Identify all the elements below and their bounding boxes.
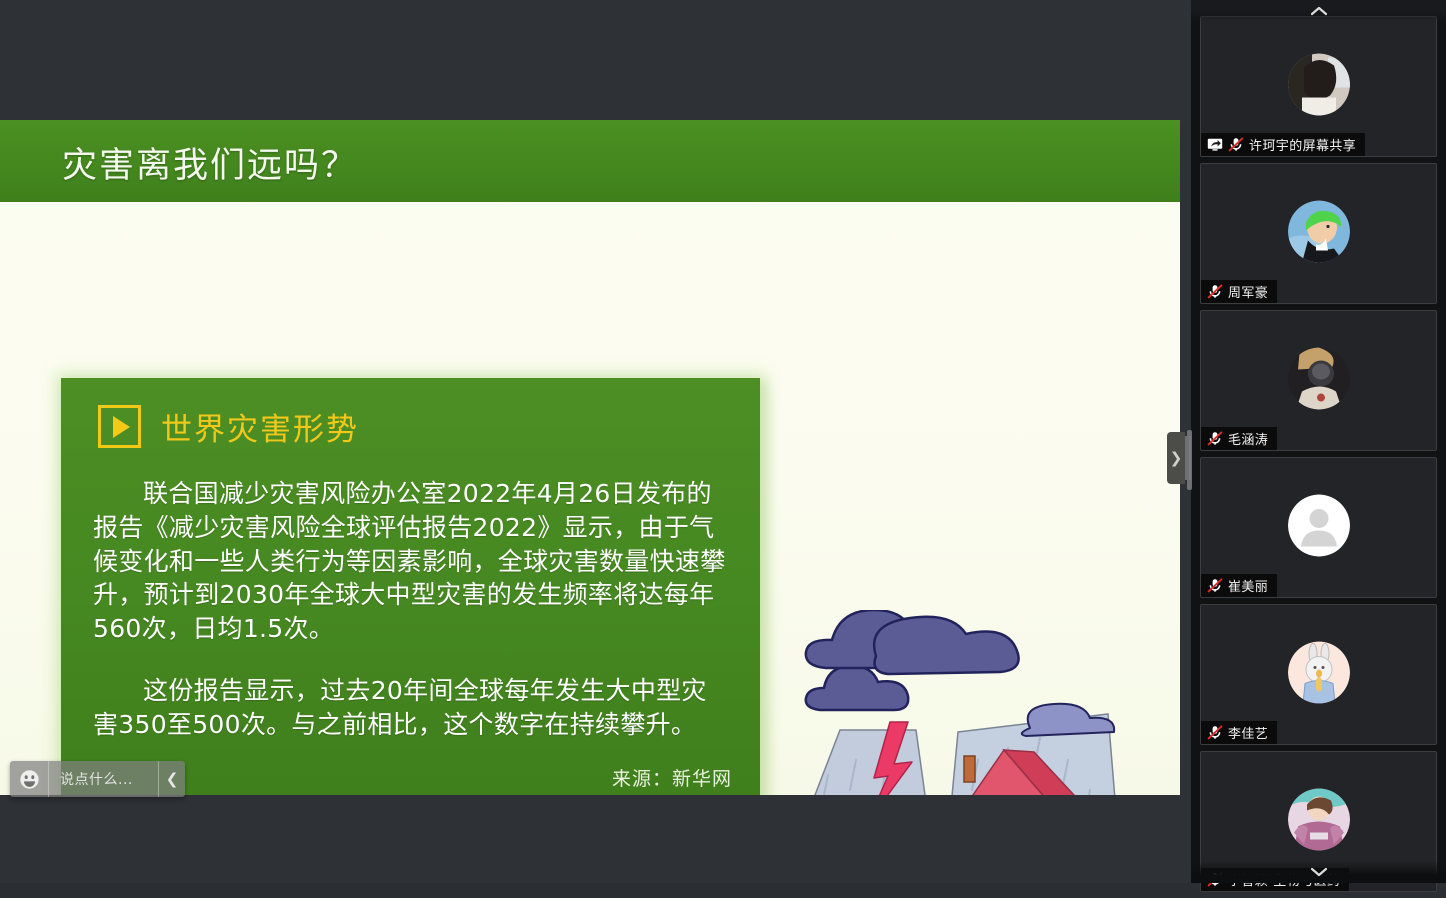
- rail-scroll-up-button[interactable]: [1191, 0, 1446, 22]
- presentation-slide: 灾害离我们远吗？ 世界灾害形势 联合国减少灾害风险办公室2022年4月26日发布…: [0, 120, 1180, 795]
- participant-name: 毛涵涛: [1228, 429, 1268, 448]
- participant-name-bar: 李佳艺: [1201, 721, 1277, 744]
- chevron-up-icon: [1309, 5, 1329, 17]
- content-panel-heading: 世界灾害形势: [161, 404, 359, 449]
- comment-collapse-button[interactable]: ❮: [159, 761, 185, 797]
- participant-tile[interactable]: 许珂宇的屏幕共享: [1200, 16, 1437, 157]
- participant-name: 李佳艺: [1228, 723, 1268, 742]
- participant-name-bar: 崔美丽: [1201, 574, 1277, 597]
- meeting-screen: 灾害离我们远吗？ 世界灾害形势 联合国减少灾害风险办公室2022年4月26日发布…: [0, 0, 1446, 883]
- comment-bar[interactable]: 说点什么... ❮: [10, 761, 185, 797]
- panel-paragraph-2: 这份报告显示，过去20年间全球每年发生大中型灾害350至500次。与之前相比，这…: [93, 674, 727, 742]
- participant-name-bar: 许珂宇的屏幕共享: [1201, 133, 1365, 156]
- participant-name: 崔美丽: [1228, 576, 1268, 595]
- participant-tile[interactable]: 周军豪: [1200, 163, 1437, 304]
- avatar: [1288, 494, 1350, 556]
- mic-muted-icon: [1228, 137, 1244, 152]
- participant-name: 许珂宇的屏幕共享: [1249, 135, 1356, 154]
- participant-tile[interactable]: 崔美丽: [1200, 457, 1437, 598]
- chevron-right-icon: ❯: [1170, 451, 1183, 466]
- rail-resize-grip[interactable]: [1187, 430, 1192, 490]
- content-panel-header: 世界灾害形势: [98, 404, 359, 449]
- avatar: [1288, 641, 1350, 703]
- participant-name-bar: 周军豪: [1201, 280, 1277, 303]
- smiley-icon[interactable]: [10, 761, 49, 797]
- participant-name: 周军豪: [1228, 282, 1268, 301]
- participant-tile[interactable]: 李佳艺: [1200, 604, 1437, 745]
- content-panel-source: 来源：新华网: [612, 764, 732, 791]
- panel-collapse-handle[interactable]: ❯: [1167, 432, 1185, 484]
- content-panel-body: 联合国减少灾害风险办公室2022年4月26日发布的报告《减少灾害风险全球评估报告…: [93, 477, 727, 769]
- slide-title: 灾害离我们远吗？: [62, 137, 358, 188]
- participant-tiles: 许珂宇的屏幕共享: [1191, 16, 1446, 898]
- chevron-down-icon: [1309, 866, 1329, 878]
- mic-muted-icon: [1207, 284, 1223, 299]
- mic-muted-icon: [1207, 578, 1223, 593]
- avatar: [1288, 788, 1350, 850]
- panel-paragraph-1: 联合国减少灾害风险办公室2022年4月26日发布的报告《减少灾害风险全球评估报告…: [93, 477, 727, 646]
- screen-share-icon: [1207, 138, 1223, 151]
- avatar: [1288, 347, 1350, 409]
- content-panel: 世界灾害形势 联合国减少灾害风险办公室2022年4月26日发布的报告《减少灾害风…: [61, 378, 760, 795]
- participant-rail[interactable]: 许珂宇的屏幕共享: [1191, 0, 1446, 883]
- play-triangle-icon: [98, 405, 141, 448]
- flood-storm-house-illustration: [768, 610, 1136, 795]
- mic-muted-icon: [1207, 725, 1223, 740]
- chevron-left-icon: ❮: [166, 770, 179, 788]
- avatar: [1288, 200, 1350, 262]
- mic-muted-icon: [1207, 431, 1223, 446]
- avatar: [1288, 53, 1350, 115]
- comment-input[interactable]: 说点什么...: [49, 761, 159, 797]
- rail-scroll-down-button[interactable]: [1191, 861, 1446, 883]
- participant-name-bar: 毛涵涛: [1201, 427, 1277, 450]
- participant-tile[interactable]: 毛涵涛: [1200, 310, 1437, 451]
- shared-screen-area[interactable]: 灾害离我们远吗？ 世界灾害形势 联合国减少灾害风险办公室2022年4月26日发布…: [0, 0, 1191, 883]
